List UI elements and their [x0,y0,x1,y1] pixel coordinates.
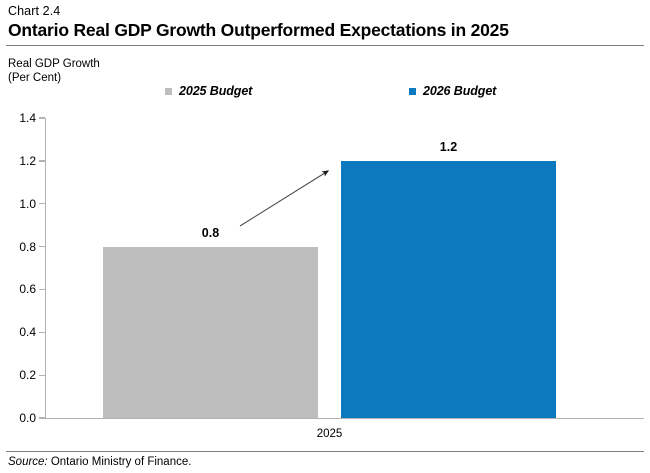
bar-value-label: 1.2 [341,140,556,154]
y-axis-line [45,118,46,419]
x-axis-line [45,418,644,419]
y-axis-tick-label: 0.0 [0,411,36,425]
plot-area: 1.41.21.00.80.60.40.20.0 0.81.2 2025 [0,0,650,473]
source-note: Source: Ontario Ministry of Finance. [8,456,191,468]
y-axis-tick [39,332,45,333]
source-prefix: Source: [8,456,48,468]
y-axis-tick-label: 1.2 [0,154,36,168]
y-axis-tick-label: 1.4 [0,111,36,125]
bar-2026-budget [341,161,556,418]
y-axis-tick-label: 1.0 [0,197,36,211]
y-axis-tick-label: 0.4 [0,325,36,339]
y-axis-tick [39,117,45,118]
source-text: Ontario Ministry of Finance. [48,456,192,468]
chart-page: Chart 2.4 Ontario Real GDP Growth Outper… [0,0,650,473]
y-axis-tick-label: 0.8 [0,240,36,254]
y-axis-tick [39,417,45,418]
y-axis-tick [39,289,45,290]
x-axis-category-label: 2025 [103,428,556,440]
y-axis-tick [39,203,45,204]
footer-divider [6,451,644,452]
y-axis-tick [39,246,45,247]
y-axis-tick [39,160,45,161]
growth-arrow-icon [225,155,350,240]
bar-2025-budget [103,247,318,418]
y-axis-tick [39,375,45,376]
y-axis-tick-label: 0.6 [0,282,36,296]
y-axis-tick-label: 0.2 [0,368,36,382]
